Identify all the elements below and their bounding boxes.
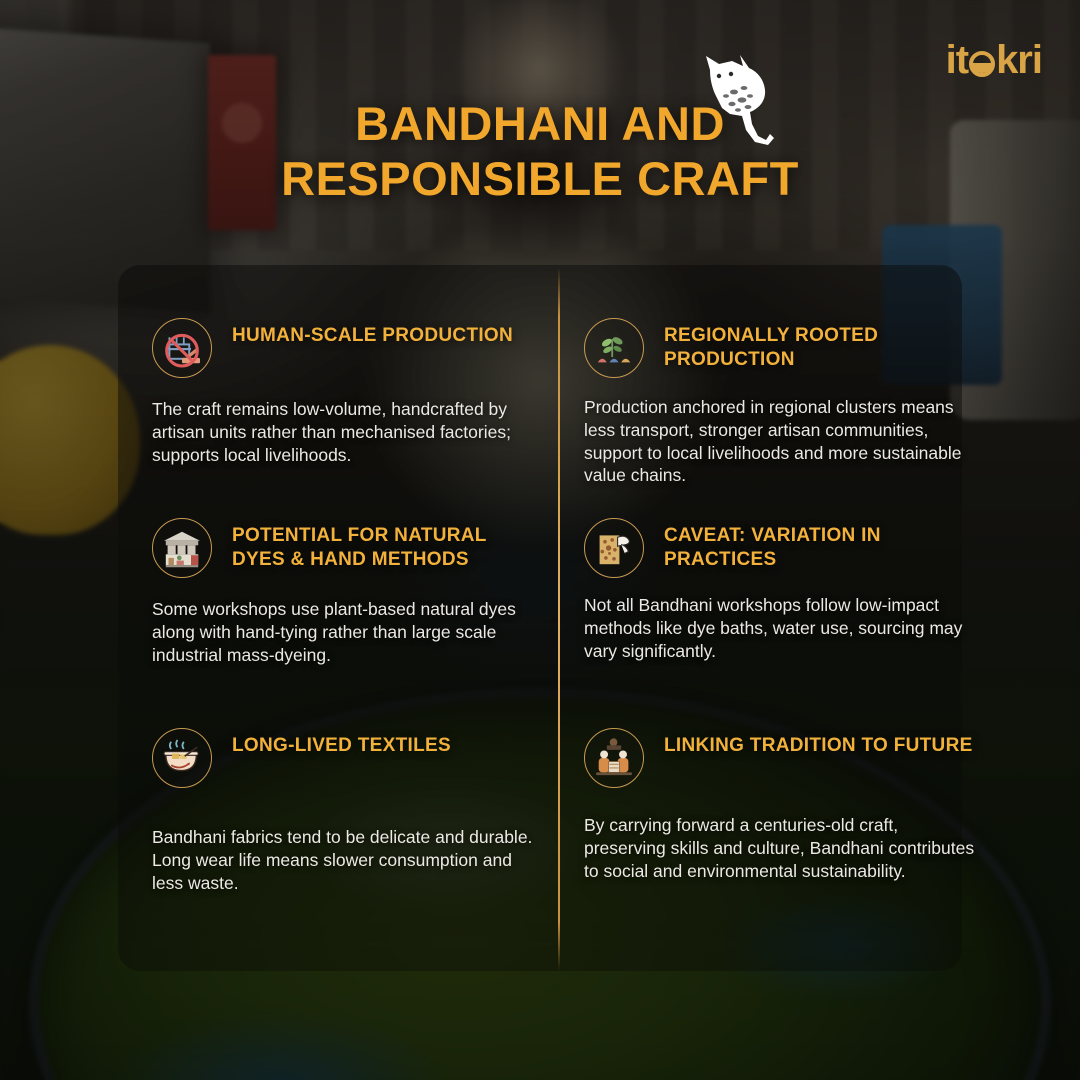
sprout-dye-piles-icon [584,318,644,378]
card-body: By carrying forward a centuries-old craf… [584,814,984,882]
cat-illustration-icon [686,52,796,148]
two-artisans-icon [584,728,644,788]
card-body: Production anchored in regional clusters… [584,396,984,487]
card-title: POTENTIAL FOR NATURAL DYES & HAND METHOD… [232,524,544,571]
card-header: LONG-LIVED TEXTILES [152,728,544,788]
card-caveat-variation-in-practices: CAVEAT: VARIATION IN PRACTICES Not all B… [584,518,984,662]
card-header: HUMAN-SCALE PRODUCTION [152,318,544,378]
card-title: LONG-LIVED TEXTILES [232,734,451,758]
card-body: Bandhani fabrics tend to be delicate and… [152,826,544,894]
steaming-dye-pot-icon [152,728,212,788]
brand-logo: itkri [946,40,1042,80]
column-divider [558,268,560,970]
card-header: POTENTIAL FOR NATURAL DYES & HAND METHOD… [152,518,544,578]
brand-logo-part-it: it [946,38,968,82]
hand-holding-fabric-icon [584,518,644,578]
card-header: LINKING TRADITION TO FUTURE [584,728,984,788]
card-long-lived-textiles: LONG-LIVED TEXTILES Bandhani fabrics ten… [152,728,544,894]
card-natural-dyes-hand-methods: POTENTIAL FOR NATURAL DYES & HAND METHOD… [152,518,544,666]
card-body: The craft remains low-volume, handcrafte… [152,398,544,466]
card-header: CAVEAT: VARIATION IN PRACTICES [584,518,984,578]
no-factory-icon [152,318,212,378]
card-human-scale-production: HUMAN-SCALE PRODUCTION The craft remains… [152,318,544,466]
card-body: Not all Bandhani workshops follow low-im… [584,594,984,662]
page-title-line-2: RESPONSIBLE CRAFT [0,151,1080,206]
workshop-building-icon [152,518,212,578]
card-title: LINKING TRADITION TO FUTURE [664,734,973,758]
page-title: BANDHANI AND RESPONSIBLE CRAFT [0,96,1080,207]
card-regionally-rooted-production: REGIONALLY ROOTED PRODUCTION Production … [584,318,984,487]
card-title: HUMAN-SCALE PRODUCTION [232,324,513,348]
card-body: Some workshops use plant-based natural d… [152,598,544,666]
card-header: REGIONALLY ROOTED PRODUCTION [584,318,984,378]
brand-logo-basket-icon [969,51,995,77]
card-title: CAVEAT: VARIATION IN PRACTICES [664,524,984,571]
brand-logo-part-kri: kri [996,38,1042,82]
card-linking-tradition-to-future: LINKING TRADITION TO FUTURE By carrying … [584,728,984,882]
card-title: REGIONALLY ROOTED PRODUCTION [664,324,984,371]
page-title-line-1: BANDHANI AND [0,96,1080,151]
